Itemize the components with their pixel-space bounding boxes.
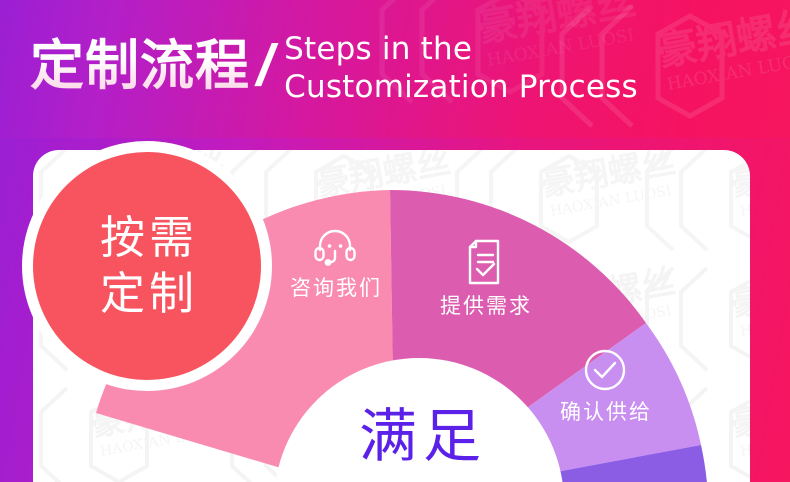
pie-center-label: 满足 xyxy=(300,404,540,468)
page-header: 豪翔螺丝 HAOXIAN LUOSI 豪翔螺丝 HAOXIAN LUOSI 定制… xyxy=(0,0,790,140)
on-demand-badge[interactable]: 按需 定制 xyxy=(33,152,261,380)
badge-line-1: 按需 xyxy=(96,210,198,266)
page-title-en-line2: Customization Process xyxy=(284,68,638,106)
page-title-cn: 定制流程 xyxy=(30,24,250,108)
header-content: 定制流程 / Steps in the Customization Proces… xyxy=(30,24,770,124)
page-title-en-line1: Steps in the xyxy=(284,30,638,68)
title-separator: / xyxy=(249,24,283,108)
page-title-en: Steps in the Customization Process xyxy=(284,30,638,106)
infographic-stage: 豪翔螺丝 HAOXIAN LUOSI 豪翔螺丝 HAOXIAN LUOSI 定制… xyxy=(0,0,790,482)
badge-line-2: 定制 xyxy=(96,266,198,322)
